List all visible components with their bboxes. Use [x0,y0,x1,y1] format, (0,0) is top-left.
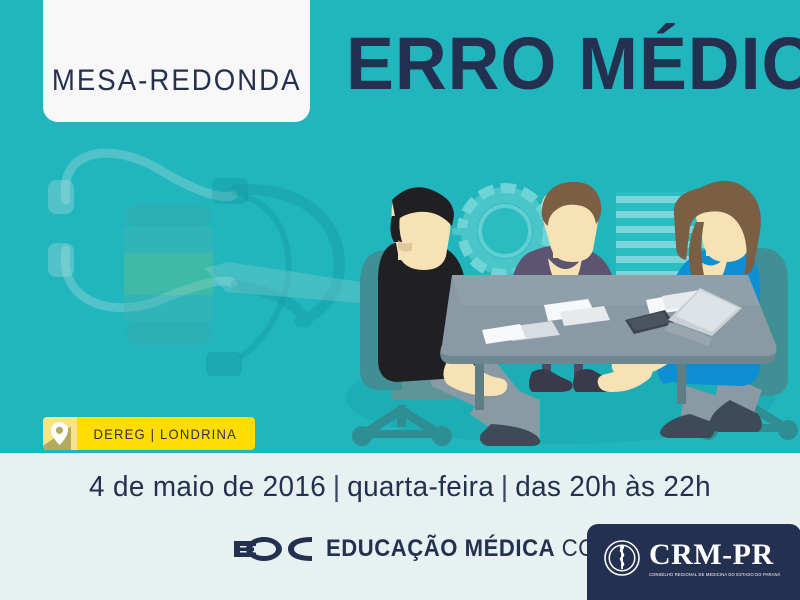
crm-pr-subtitle: CONSELHO REGIONAL DE MEDICINA DO ESTADO … [649,572,781,578]
schedule-separator-2: | [494,471,515,503]
hero-section: MESA-REDONDA ERRO MÉDICO DEREG | LONDRIN… [0,0,800,453]
emc-mark-icon [234,534,312,564]
map-pin-icon [43,417,77,450]
badge-mesa-redonda: MESA-REDONDA [43,0,310,122]
emc-tagline-bold: EDUCAÇÃO MÉDICA [326,535,555,562]
event-weekday: quarta-feira [347,471,494,503]
event-schedule: 4 de maio de 2016|quarta-feira|das 20h à… [16,471,784,504]
location-badge: DEREG | LONDRINA [43,417,255,450]
location-label: DEREG | LONDRINA [83,417,249,450]
event-time: das 20h às 22h [515,471,711,503]
caduceus-icon [604,540,640,576]
page-title: ERRO MÉDICO [346,27,800,101]
schedule-separator-1: | [326,471,347,503]
event-date: 4 de maio de 2016 [89,471,326,503]
crm-pr-logo: CRM-PR CONSELHO REGIONAL DE MEDICINA DO … [587,524,800,600]
badge-mesa-label: MESA-REDONDA [52,64,302,98]
event-poster: MESA-REDONDA ERRO MÉDICO DEREG | LONDRIN… [0,0,800,600]
crm-pr-name: CRM-PR [649,540,781,570]
